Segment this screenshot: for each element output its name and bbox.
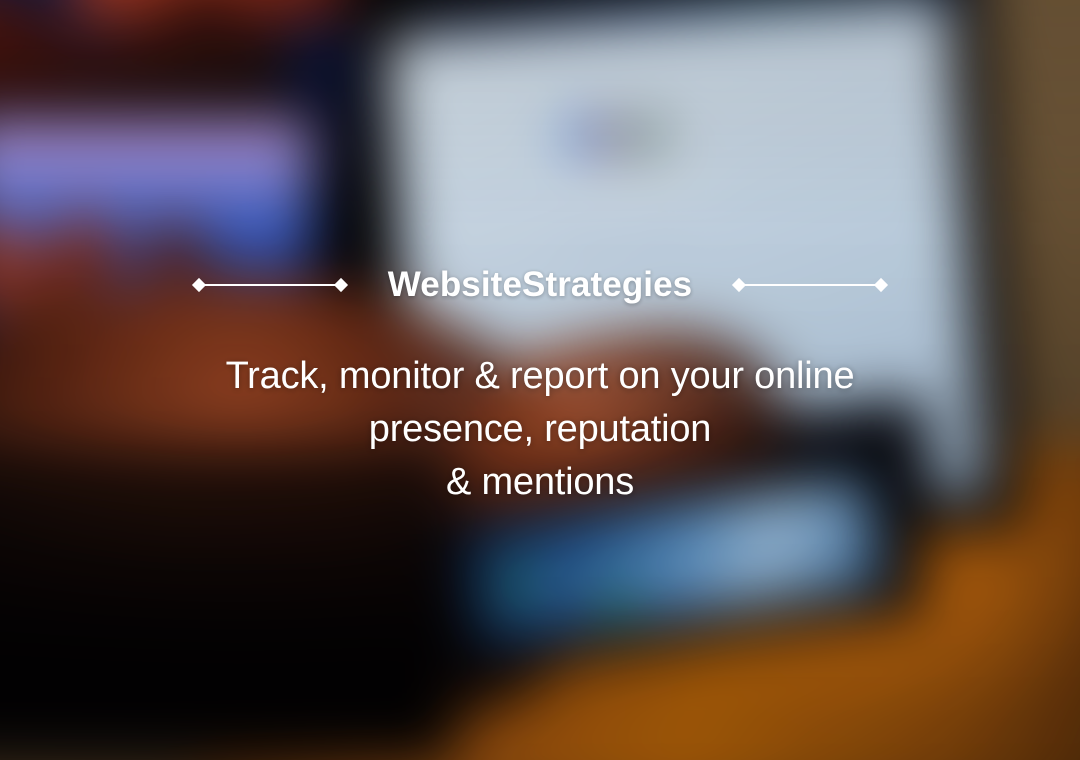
hero-banner: WebsiteStrategies Track, monitor & repor… <box>0 0 1080 760</box>
diamond-rule-left-icon <box>194 279 346 291</box>
rule-line <box>739 284 881 286</box>
diamond-rule-right-icon <box>734 279 886 291</box>
hero-content: WebsiteStrategies Track, monitor & repor… <box>0 0 1080 760</box>
rule-line <box>199 284 341 286</box>
tagline-line: & mentions <box>0 456 1080 509</box>
site-title: WebsiteStrategies <box>388 265 693 305</box>
tagline-line: Track, monitor & report on your online <box>0 350 1080 403</box>
tagline-line: presence, reputation <box>0 403 1080 456</box>
tagline: Track, monitor & report on your online p… <box>0 350 1080 509</box>
title-row: WebsiteStrategies <box>0 262 1080 308</box>
diamond-icon <box>874 278 888 292</box>
diamond-icon <box>334 278 348 292</box>
